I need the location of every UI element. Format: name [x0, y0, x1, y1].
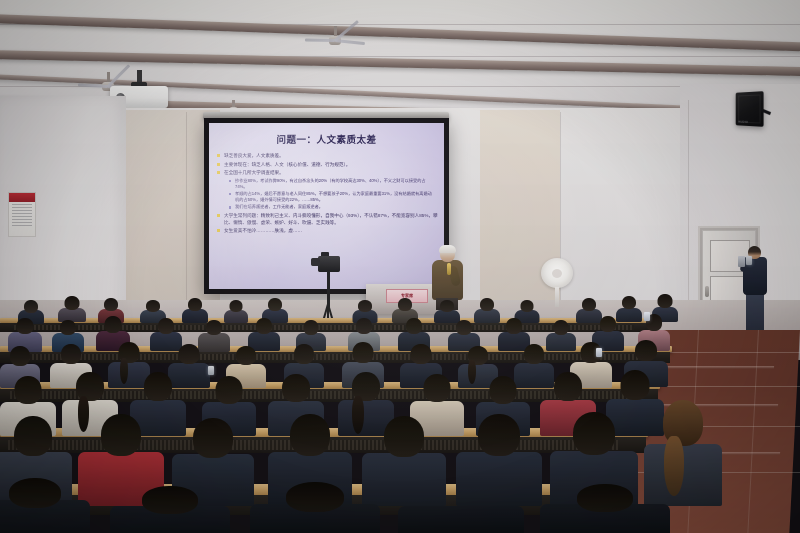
audience-member — [110, 486, 230, 533]
phone-icon — [644, 312, 650, 321]
audience-member — [434, 300, 460, 322]
phone-icon — [208, 366, 214, 375]
audience-member — [398, 488, 524, 533]
door-handle[interactable] — [705, 286, 709, 297]
phone-icon — [746, 256, 752, 265]
microphone — [447, 263, 451, 275]
slide-sub-bullet: 我们在培养叛逆者，工作无能者，家庭叛逆者。 — [229, 204, 436, 210]
audience-member — [474, 298, 500, 322]
notice-header — [9, 193, 35, 202]
audience-member — [540, 484, 670, 533]
audience-member — [0, 478, 90, 533]
ceiling-fan — [305, 26, 365, 46]
lecture-hall-photo: AUDIO 问题一：人文素质太差 缺乏善良大爱，人文素质差。 主要体现在：缺乏人… — [0, 0, 800, 533]
camera-lens-hood — [311, 258, 320, 266]
audience-member — [58, 296, 86, 322]
slide-bullet: 大学生常列问题：精致利己主义、内斗撕咬懂形，自我中心（93%），不认错87%，不… — [217, 212, 438, 226]
slide-bullet: 在全国十几所大学调查结果。 — [217, 169, 438, 176]
slide-bullet-list: 缺乏善良大爱，人文素质差。 主要体现在：缺乏人格、人文（核心价值、道德、行为规范… — [209, 152, 444, 234]
audience-member — [250, 482, 380, 533]
slide-sub-bullet: 抄作业80%，考试作弊90%，有过自杀念头的20%（有的学校高达30%、40%）… — [229, 178, 436, 190]
pedestal-fan — [541, 258, 573, 310]
audience-member — [182, 298, 208, 322]
slide-bullet: 女生爱美不怕冷…………肤浅，虚…… — [217, 227, 438, 234]
slide-bullet: 缺乏善良大爱，人文素质差。 — [217, 152, 438, 159]
audience-member — [224, 300, 248, 322]
slide-bullet: 主要体现在：缺乏人格、人文（核心价值、道德、行为规范）。 — [217, 161, 438, 168]
video-camera — [318, 256, 340, 272]
slide-title: 问题一：人文素质太差 — [209, 132, 444, 146]
phone-icon — [596, 348, 602, 357]
phone-icon — [738, 256, 745, 267]
speaker-brand-label: AUDIO — [738, 120, 748, 124]
wall-notice-board — [8, 192, 36, 237]
slide-sub-list: 抄作业80%，考试作弊90%，有过自杀念头的20%（有的学校高达30%、40%）… — [217, 178, 438, 211]
camera-tripod — [312, 256, 346, 322]
wall-speaker: AUDIO — [736, 91, 764, 127]
slide-sub-bullet: 孝顺的占14%，婚后不愿意与老人同住85%，不想要孩子20%，认为家庭最重要31… — [229, 191, 436, 203]
presenter-hair — [439, 245, 456, 253]
